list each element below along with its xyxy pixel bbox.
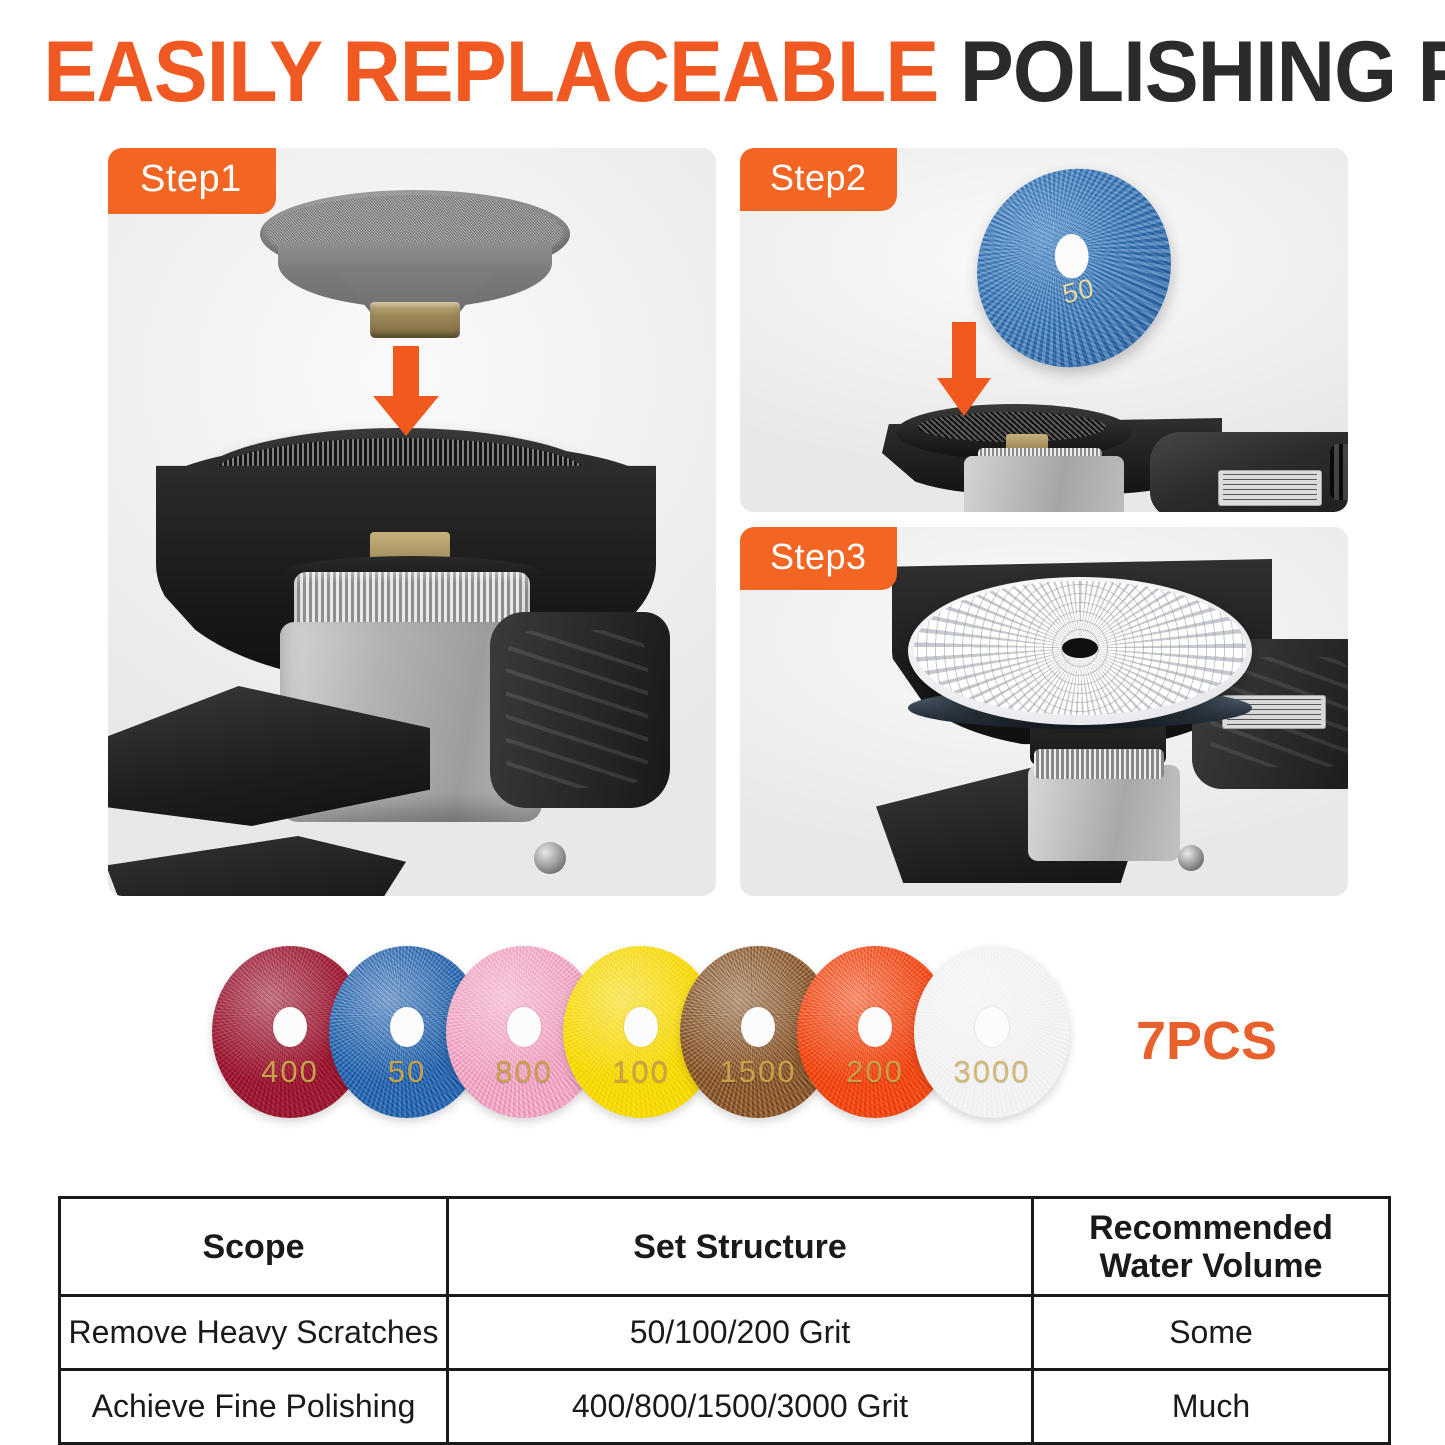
mounted-white-polishing-pad bbox=[908, 577, 1252, 725]
table-header-set-structure: Set Structure bbox=[448, 1198, 1033, 1296]
page-title: EASILY REPLACEABLE POLISHING PADS bbox=[43, 24, 1401, 120]
pad-center-hole bbox=[975, 1007, 1009, 1047]
step2-badge: Step2 bbox=[740, 148, 897, 211]
table-header-water-volume: Recommended Water Volume bbox=[1033, 1198, 1390, 1296]
arrow-head bbox=[373, 396, 439, 436]
pad-grit-label: 3000 bbox=[954, 1054, 1031, 1090]
step3-badge: Step3 bbox=[740, 527, 897, 590]
pad-disk: 3000 bbox=[914, 946, 1070, 1118]
step2-panel: 50 Step2 bbox=[740, 148, 1348, 512]
machine-screw bbox=[534, 842, 566, 874]
pad-center-hole bbox=[741, 1007, 775, 1047]
table-cell-scope: Remove Heavy Scratches bbox=[60, 1296, 448, 1370]
table-header-water-line1: Recommended bbox=[1089, 1209, 1333, 1247]
backing-pad-brass-nut bbox=[370, 302, 460, 338]
table-cell-structure: 400/800/1500/3000 Grit bbox=[448, 1370, 1033, 1444]
machine-vents bbox=[1330, 444, 1348, 500]
machine-motor-housing bbox=[964, 456, 1124, 512]
specification-table: Scope Set Structure Recommended Water Vo… bbox=[58, 1196, 1391, 1445]
machine-grip bbox=[490, 612, 670, 808]
polisher-machine-illustration bbox=[878, 404, 1348, 512]
down-arrow-icon bbox=[928, 322, 1000, 416]
pad-3000: 3000 bbox=[914, 946, 1070, 1118]
pad-center-hole bbox=[624, 1007, 658, 1047]
pad-grit-label: 800 bbox=[495, 1054, 553, 1090]
table-header-water-line2: Water Volume bbox=[1100, 1247, 1323, 1285]
backing-pad-illustration bbox=[260, 190, 570, 318]
pad-center-hole bbox=[273, 1007, 307, 1047]
table-header-row: Scope Set Structure Recommended Water Vo… bbox=[60, 1198, 1390, 1296]
arrow-shaft bbox=[952, 322, 976, 378]
machine-motor-housing bbox=[1028, 765, 1180, 861]
machine-gear-collar bbox=[1034, 749, 1164, 779]
page-title-dark: POLISHING PADS bbox=[960, 24, 1445, 120]
table-cell-scope: Achieve Fine Polishing bbox=[60, 1370, 448, 1444]
arrow-head bbox=[937, 378, 991, 416]
down-arrow-icon bbox=[363, 346, 449, 436]
table-cell-water: Much bbox=[1033, 1370, 1390, 1444]
pad-center-hole bbox=[390, 1007, 424, 1047]
pad-grit-label: 1500 bbox=[720, 1054, 797, 1090]
table-header-scope: Scope bbox=[60, 1198, 448, 1296]
pad-center-hole bbox=[1062, 638, 1098, 658]
pad-center-hole bbox=[858, 1007, 892, 1047]
pad-grit-label: 100 bbox=[612, 1054, 670, 1090]
polisher-machine-illustration bbox=[862, 553, 1348, 893]
pad-grit-label: 200 bbox=[846, 1054, 904, 1090]
table-cell-water: Some bbox=[1033, 1296, 1390, 1370]
arrow-shaft bbox=[393, 346, 419, 398]
table-row: Achieve Fine Polishing400/800/1500/3000 … bbox=[60, 1370, 1390, 1444]
machine-foot bbox=[108, 836, 406, 896]
polisher-machine-illustration bbox=[108, 424, 716, 896]
pad-center-hole bbox=[507, 1007, 541, 1047]
table-row: Remove Heavy Scratches50/100/200 GritSom… bbox=[60, 1296, 1390, 1370]
step1-panel: Step1 bbox=[108, 148, 716, 896]
pad-grit-label: 50 bbox=[388, 1054, 426, 1090]
pieces-count-label: 7PCS bbox=[1136, 1010, 1277, 1072]
machine-screw bbox=[1178, 845, 1204, 871]
machine-spec-label bbox=[1218, 470, 1322, 506]
step3-panel: Step3 bbox=[740, 527, 1348, 896]
step1-badge: Step1 bbox=[108, 148, 276, 214]
table-cell-structure: 50/100/200 Grit bbox=[448, 1296, 1033, 1370]
pad-grit-label: 400 bbox=[261, 1054, 319, 1090]
page-title-orange: EASILY REPLACEABLE bbox=[43, 24, 938, 120]
